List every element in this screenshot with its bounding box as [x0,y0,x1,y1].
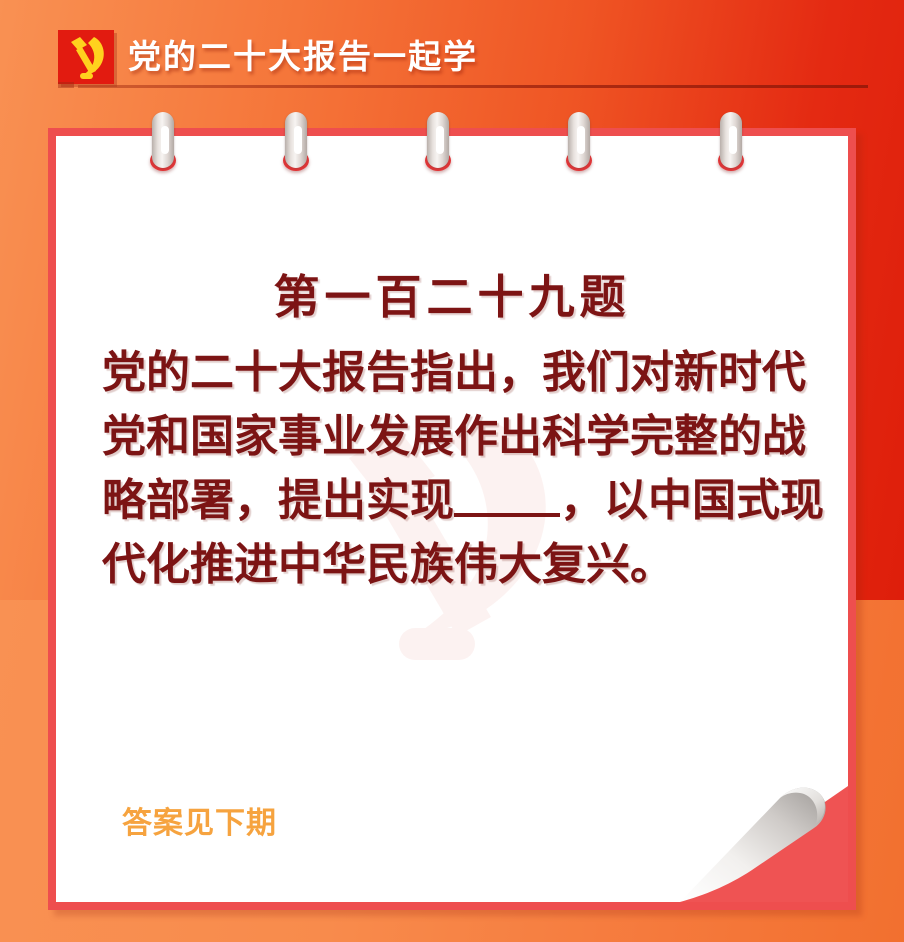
poster-root: 党的二十大报告一起学 第一百二十九题 党 [0,0,904,942]
page-curl-icon [668,772,848,902]
answer-blank [454,513,560,517]
header-title: 党的二十大报告一起学 [128,30,478,84]
binding-ring [425,112,451,174]
page-title: 第一百二十九题 [56,261,848,327]
question-line: 党的二十大报告指出，我们对新时代 [102,341,818,405]
binding-ring [150,112,176,174]
card-paper: 第一百二十九题 党的二十大报告指出，我们对新时代 党和国家事业发展作出科学完整的… [56,136,848,902]
header-divider [78,85,868,88]
binding-ring [718,112,744,174]
question-line-prefix: 略部署，提出实现 [102,475,454,526]
binding-ring-slot [729,126,737,154]
answer-note: 答案见下期 [122,798,277,842]
header: 党的二十大报告一起学 [0,0,904,98]
question-line-suffix: ，以中国式现 [560,475,824,526]
party-emblem-hammer-sickle-icon [58,30,114,84]
question-body: 党的二十大报告指出，我们对新时代 党和国家事业发展作出科学完整的战 略部署，提出… [102,341,818,597]
binding-ring-slot [161,126,169,154]
question-line-with-blank: 略部署，提出实现，以中国式现 [102,469,818,533]
header-rule-cap [58,82,74,88]
binding-ring-body [427,112,449,168]
binding-ring-slot [436,126,444,154]
binding-ring-body [152,112,174,168]
binding-ring-body [568,112,590,168]
binding-ring-slot [294,126,302,154]
question-line: 党和国家事业发展作出科学完整的战 [102,405,818,469]
binding-ring-body [720,112,742,168]
binding-ring [566,112,592,174]
binding-ring [283,112,309,174]
question-line: 代化推进中华民族伟大复兴。 [102,533,818,597]
question-card: 第一百二十九题 党的二十大报告指出，我们对新时代 党和国家事业发展作出科学完整的… [48,128,856,910]
binding-ring-slot [577,126,585,154]
binding-ring-body [285,112,307,168]
